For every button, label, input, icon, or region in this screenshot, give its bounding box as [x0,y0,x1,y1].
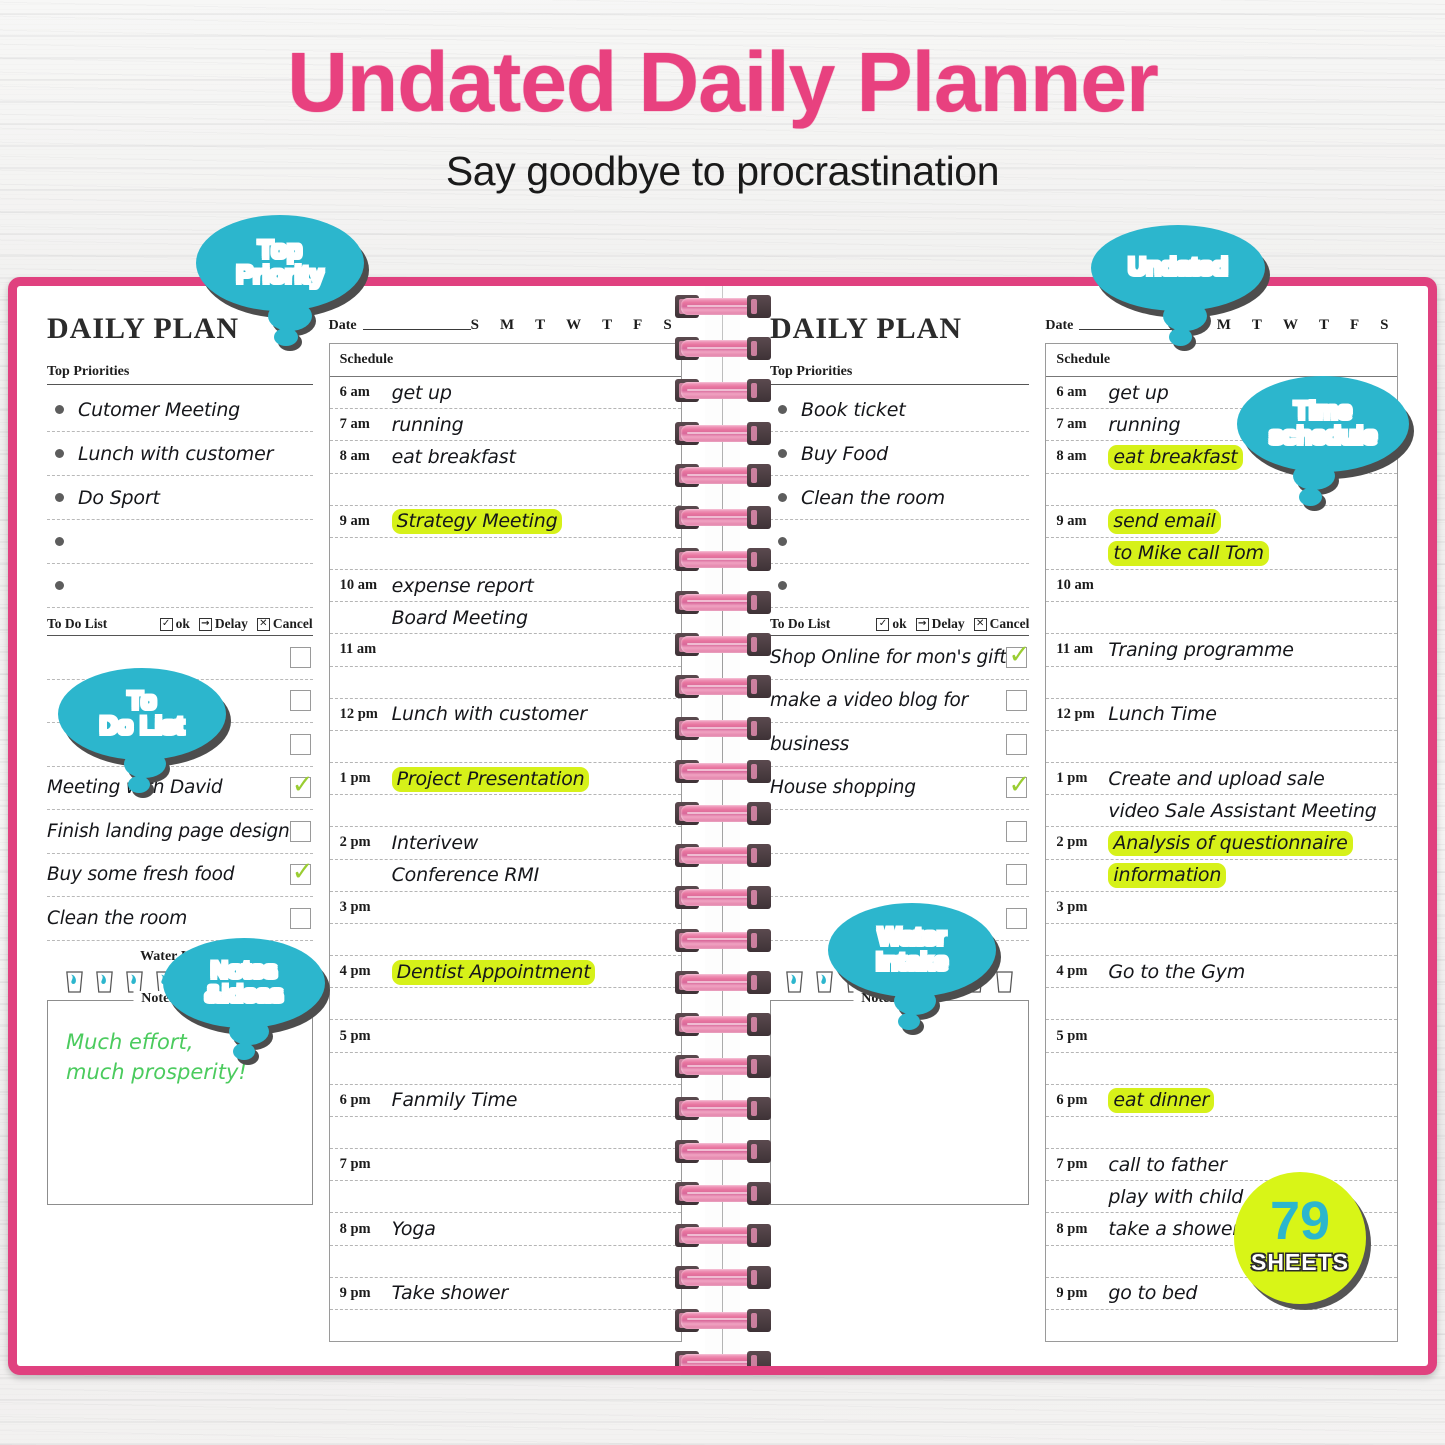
schedule-row[interactable] [330,988,681,1020]
schedule-hour-label: 2 pm [340,834,392,851]
schedule-entry-text: eat breakfast [1108,446,1242,468]
priority-text: Buy Food [801,443,888,465]
coil-ring [675,1012,771,1038]
todo-row[interactable]: make a video blog for [770,680,1029,724]
schedule-hour-label: 7 pm [340,1156,392,1173]
todo-text: Buy some fresh food [47,864,234,885]
todo-text: make a video blog for [770,690,968,711]
bullet-icon [55,405,64,414]
schedule-entry-text: get up [392,382,452,404]
callout-undated: Undated [1091,225,1265,311]
highlighted-entry: Analysis of questionnaire [1108,831,1352,856]
todo-row[interactable]: Clean the room [47,897,313,941]
sheets-word: SHEETS [1251,1249,1349,1276]
schedule-hour-label: 8 am [1056,448,1108,465]
schedule-row[interactable] [1046,1053,1397,1085]
schedule-hour-label: 8 pm [1056,1221,1108,1238]
date-input-left[interactable] [363,329,471,330]
todo-checkbox[interactable] [1006,734,1027,755]
coil-ring [675,294,771,320]
schedule-row[interactable] [1046,988,1397,1020]
schedule-hour-label: 3 pm [340,899,392,916]
coil-ring [675,716,771,742]
todo-checkbox-checked[interactable] [290,777,311,798]
schedule-hour-label: 10 am [340,577,392,594]
day-of-week-2: T [1252,317,1262,334]
schedule-row[interactable]: 7 amrunning [330,409,681,441]
bullet-icon [55,581,64,590]
notes-line: much prosperity! [66,1057,298,1087]
callout-line2: Intake [876,950,948,976]
todo-header-right: To Do List ✓ok →Delay ✕Cancel [770,616,1029,636]
schedule-entry-text: eat breakfast [392,446,516,468]
schedule-row[interactable] [1046,924,1397,956]
day-of-week-2: T [535,317,545,334]
schedule-row[interactable] [330,667,681,699]
highlighted-entry: send email [1108,509,1220,534]
schedule-hour-label: 6 pm [1056,1092,1108,1109]
legend-cancel-label: Cancel [990,616,1030,632]
schedule-box-left: Schedule 6 amget up7 amrunning8 ameat br… [329,343,682,1342]
todo-row[interactable]: business [770,723,1029,767]
left-page-column-schedule: Date SMTWTFS Schedule 6 amget up7 amrunn… [313,312,682,1344]
coil-ring [675,801,771,827]
top-priorities-label-left: Top Priorities [47,364,313,385]
schedule-entry-text: play with child [1108,1186,1243,1208]
header: Undated Daily Planner Say goodbye to pro… [0,0,1445,195]
todo-row[interactable]: Buy some fresh food [47,854,313,898]
schedule-row[interactable]: 12 pmLunch Time [1046,699,1397,731]
schedule-label-right: Schedule [1046,344,1397,377]
callout-line2: schedule [1269,424,1377,450]
notes-box-right: Notes&Ideas [770,1000,1029,1205]
schedule-hour-label: 9 am [340,513,392,530]
priority-text: Cutomer Meeting [78,399,240,421]
legend-ok-label: ok [176,616,190,632]
schedule-row[interactable]: 10 am [1046,570,1397,602]
priority-row[interactable]: Buy Food [770,432,1029,476]
highlighted-entry: Dentist Appointment [392,960,596,985]
schedule-entry-text: call to father [1108,1154,1226,1176]
bullet-icon [778,493,787,502]
schedule-row[interactable]: 6 amget up [330,377,681,409]
coil-ring [675,1096,771,1122]
schedule-row[interactable] [330,1246,681,1278]
callout-line2: Do List [100,714,185,740]
planner-page-left: DAILY PLAN Top Priorities Cutomer Meetin… [17,286,705,1366]
day-of-week-1: M [1217,317,1231,334]
left-page-column-priorities: DAILY PLAN Top Priorities Cutomer Meetin… [47,312,313,1344]
callout-line2: &ideas [205,983,284,1007]
priority-row[interactable]: Clean the room [770,476,1029,520]
delay-icon: → [199,618,212,631]
schedule-row[interactable]: Board Meeting [330,602,681,634]
schedule-row[interactable]: 12 pmLunch with customer [330,699,681,731]
schedule-entry-text: Project Presentation [392,768,590,790]
schedule-entry-text: Conference RMI [392,864,539,886]
spiral-binding [675,294,771,1366]
bullet-icon [778,537,787,546]
cancel-icon: ✕ [974,618,987,631]
todo-text: House shopping [770,777,916,798]
schedule-entry-text: get up [1108,382,1168,404]
schedule-entry-text: Lunch with customer [392,703,587,725]
bullet-icon [778,449,787,458]
callout-time-schedule: Timeschedule [1237,376,1409,472]
schedule-row[interactable]: 10 amexpense report [330,570,681,602]
schedule-row[interactable]: 2 pmInterivew [330,827,681,859]
ok-icon: ✓ [160,618,173,631]
day-of-week-0: S [471,317,479,334]
schedule-entry-text: Traning programme [1108,639,1293,661]
bullet-icon [778,405,787,414]
schedule-hour-label: 12 pm [1056,706,1108,723]
schedule-row[interactable]: 3 pm [1046,892,1397,924]
schedule-row[interactable] [1046,667,1397,699]
priority-row[interactable]: Do Sport [47,476,313,520]
priority-text: Do Sport [78,487,160,509]
date-label-right: Date [1045,318,1073,334]
schedule-hour-label: 1 pm [340,770,392,787]
top-priorities-list-left: Cutomer MeetingLunch with customerDo Spo… [47,388,313,608]
schedule-row[interactable]: 11 amTraning programme [1046,634,1397,666]
callout-line1: To [100,689,185,715]
bullet-icon [778,581,787,590]
schedule-entry-text: to Mike call Tom [1108,542,1268,564]
day-of-week-3: W [566,317,581,334]
todo-legend-right: ✓ok →Delay ✕Cancel [876,616,1029,632]
sheets-badge: 79 SHEETS [1234,1172,1366,1304]
coil-ring [675,1139,771,1165]
water-glass-filled-icon[interactable] [94,970,115,994]
schedule-row[interactable]: 9 amsend email [1046,506,1397,538]
schedule-entry-text: Strategy Meeting [392,510,563,532]
todo-text: Shop Online for mon's gift [770,647,1006,668]
schedule-row[interactable] [1046,731,1397,763]
callout-line2: Priority [236,263,324,289]
schedule-entry-text: eat dinner [1108,1089,1214,1111]
bullet-icon [55,537,64,546]
day-of-week-row-left: SMTWTFS [471,317,682,334]
schedule-hour-label: 7 pm [1056,1156,1108,1173]
schedule-row[interactable]: 3 pm [330,892,681,924]
schedule-entry-text: video Sale Assistant Meeting [1108,800,1376,822]
todo-checkbox-checked[interactable] [1006,647,1027,668]
date-row-left: Date SMTWTFS [329,312,682,334]
todo-row[interactable]: Finish landing page design [47,810,313,854]
callout-top-priority: TopPriority [196,215,364,311]
priority-row[interactable]: Book ticket [770,388,1029,432]
schedule-hour-label: 6 pm [340,1092,392,1109]
schedule-hour-label: 11 am [1056,641,1108,658]
schedule-hour-label: 10 am [1056,577,1108,594]
coil-ring [675,674,771,700]
notes-box-left: Notes&Ideas Much effort,much prosperity! [47,1000,313,1205]
highlighted-entry: eat breakfast [1108,445,1242,470]
coil-ring [675,378,771,404]
todo-text: Finish landing page design [47,821,290,842]
schedule-row[interactable]: 2 pmAnalysis of questionnaire [1046,827,1397,859]
coil-ring [675,843,771,869]
coil-ring [675,1054,771,1080]
schedule-hour-label: 3 pm [1056,899,1108,916]
highlighted-entry: eat dinner [1108,1088,1214,1113]
coil-ring [675,505,771,531]
todo-text: business [770,734,849,755]
schedule-row[interactable]: 5 pm [330,1020,681,1052]
todo-label-left: To Do List [47,616,107,632]
schedule-row[interactable]: 4 pmGo to the Gym [1046,956,1397,988]
schedule-entry-text: information [1108,864,1226,886]
callout-line1: Water [876,925,948,951]
water-glass-filled-icon[interactable] [64,970,85,994]
todo-checkbox-checked[interactable] [290,864,311,885]
schedule-row[interactable] [330,1053,681,1085]
coil-ring [675,1350,771,1366]
schedule-hour-label: 8 pm [340,1221,392,1238]
page-title: Undated Daily Planner [0,38,1445,126]
ok-icon: ✓ [876,618,889,631]
priority-row[interactable] [770,520,1029,564]
todo-checkbox[interactable] [1006,690,1027,711]
delay-icon: → [916,618,929,631]
todo-checkbox[interactable] [290,690,311,711]
schedule-row[interactable] [1046,1117,1397,1149]
todo-list-right: Shop Online for mon's giftmake a video b… [770,636,1029,941]
callout-line1: Undated [1128,255,1228,281]
plan-title-right: DAILY PLAN [770,312,1029,346]
schedule-entry-text: Lunch Time [1108,703,1216,725]
bullet-icon [55,449,64,458]
coil-ring [675,1265,771,1291]
right-page-column-priorities: DAILY PLAN Top Priorities Book ticketBuy… [770,312,1029,1344]
callout-line1: Notes [205,959,284,983]
schedule-entry-text: take a shower [1108,1218,1240,1240]
todo-row[interactable]: Shop Online for mon's gift [770,636,1029,680]
highlighted-entry: Strategy Meeting [392,509,563,534]
todo-row[interactable]: Meeting with David [47,767,313,811]
schedule-row[interactable]: 7 pm [330,1149,681,1181]
date-label-left: Date [329,318,357,334]
day-of-week-1: M [500,317,514,334]
schedule-entry-text: Analysis of questionnaire [1108,832,1352,854]
priority-text: Clean the room [801,487,945,509]
schedule-entry-text: go to bed [1108,1282,1197,1304]
todo-checkbox[interactable] [290,908,311,929]
schedule-row[interactable] [330,731,681,763]
schedule-entry-text: Dentist Appointment [392,961,596,983]
highlighted-entry: information [1108,863,1226,888]
callout-water-intake: WaterIntake [828,903,996,997]
coil-ring [675,970,771,996]
schedule-entry-text: Yoga [392,1218,436,1240]
top-priorities-list-right: Book ticketBuy FoodClean the room [770,388,1029,608]
bullet-icon [55,493,64,502]
schedule-entry-text: Create and upload sale [1108,768,1324,790]
schedule-row[interactable]: 7 pmcall to father [1046,1149,1397,1181]
legend-cancel-label: Cancel [273,616,313,632]
coil-ring [675,885,771,911]
todo-checkbox[interactable] [290,647,311,668]
schedule-row[interactable] [330,924,681,956]
schedule-row[interactable]: video Sale Assistant Meeting [1046,795,1397,827]
todo-legend-left: ✓ok →Delay ✕Cancel [160,616,313,632]
day-of-week-6: S [663,317,671,334]
schedule-entry-text: running [1108,414,1180,436]
day-of-week-5: F [633,317,642,334]
schedule-hour-label: 11 am [340,641,392,658]
todo-label-right: To Do List [770,616,830,632]
coil-ring [675,421,771,447]
schedule-entry-text: running [392,414,464,436]
coil-ring [675,336,771,362]
coil-ring [675,759,771,785]
schedule-row[interactable]: 1 pmCreate and upload sale [1046,763,1397,795]
priority-row[interactable]: Lunch with customer [47,432,313,476]
schedule-row[interactable]: 6 pmeat dinner [1046,1085,1397,1117]
schedule-hour-label: 6 am [340,384,392,401]
todo-checkbox[interactable] [1006,864,1027,885]
cancel-icon: ✕ [257,618,270,631]
schedule-row[interactable] [1046,1310,1397,1341]
schedule-row[interactable]: 1 pmProject Presentation [330,763,681,795]
priority-text: Book ticket [801,399,905,421]
day-of-week-4: T [602,317,612,334]
priority-row[interactable] [47,520,313,564]
coil-ring [675,1308,771,1334]
water-glass-filled-icon[interactable] [784,970,805,994]
schedule-row[interactable] [330,1117,681,1149]
schedule-row[interactable]: to Mike call Tom [1046,538,1397,570]
priority-row[interactable]: Cutomer Meeting [47,388,313,432]
schedule-hour-label: 9 am [1056,513,1108,530]
coil-ring [675,632,771,658]
callout-to-do-list: ToDo List [58,668,226,760]
schedule-entry-text: Go to the Gym [1108,961,1245,983]
water-glass-empty-icon[interactable] [994,970,1015,994]
schedule-row[interactable] [1046,602,1397,634]
day-of-week-row-right: SMTWTFS [1187,317,1398,334]
todo-header-left: To Do List ✓ok →Delay ✕Cancel [47,616,313,636]
schedule-row[interactable]: 8 ameat breakfast [330,441,681,473]
coil-ring [675,590,771,616]
schedule-label-left: Schedule [330,344,681,377]
priority-row[interactable] [47,564,313,608]
schedule-hour-label: 12 pm [340,706,392,723]
schedule-row[interactable]: 8 pmYoga [330,1213,681,1245]
schedule-entry-text: Take shower [392,1282,508,1304]
callout-line1: Top [236,238,324,264]
highlighted-entry: to Mike call Tom [1108,541,1268,566]
schedule-hour-label: 9 pm [1056,1285,1108,1302]
schedule-hour-label: 4 pm [340,963,392,980]
schedule-row[interactable] [330,795,681,827]
schedule-entry-text: expense report [392,575,534,597]
todo-row[interactable] [770,810,1029,854]
priority-row[interactable] [770,564,1029,608]
schedule-entry-text: Fanmily Time [392,1089,518,1111]
schedule-hour-label: 9 pm [340,1285,392,1302]
schedule-entry-text: send email [1108,510,1220,532]
highlighted-entry: Project Presentation [392,767,590,792]
todo-checkbox[interactable] [1006,908,1027,929]
page-subtitle: Say goodbye to procrastination [0,148,1445,195]
schedule-row[interactable]: 9 pmTake shower [330,1278,681,1310]
schedule-row[interactable] [330,1310,681,1341]
schedule-row[interactable]: 4 pmDentist Appointment [330,956,681,988]
coil-ring [675,1223,771,1249]
sheets-count: 79 [1270,1196,1330,1248]
callout-line1: Time [1269,399,1377,425]
top-priorities-label-right: Top Priorities [770,364,1029,385]
schedule-hour-label: 2 pm [1056,834,1108,851]
schedule-row[interactable]: 5 pm [1046,1020,1397,1052]
legend-ok-label: ok [892,616,906,632]
schedule-hour-label: 6 am [1056,384,1108,401]
date-row-right: Date SMTWTFS [1045,312,1398,334]
day-of-week-3: W [1283,317,1298,334]
schedule-row[interactable] [330,474,681,506]
callout-notes-ideas: Notes&ideas [163,938,325,1028]
day-of-week-4: T [1319,317,1329,334]
schedule-entry-text: Board Meeting [392,607,528,629]
schedule-row[interactable]: 6 pmFanmily Time [330,1085,681,1117]
schedule-rows-left: 6 amget up7 amrunning8 ameat breakfast9 … [330,377,681,1341]
todo-row[interactable] [770,854,1029,898]
legend-delay-label: Delay [932,616,965,632]
coil-ring [675,928,771,954]
schedule-hour-label: 4 pm [1056,963,1108,980]
schedule-row[interactable]: 9 amStrategy Meeting [330,506,681,538]
schedule-row[interactable] [330,1181,681,1213]
schedule-row[interactable]: Conference RMI [330,860,681,892]
day-of-week-6: S [1380,317,1388,334]
legend-delay-label: Delay [215,616,248,632]
schedule-row[interactable] [330,538,681,570]
priority-text: Lunch with customer [78,443,273,465]
todo-row[interactable]: House shopping [770,767,1029,811]
day-of-week-5: F [1350,317,1359,334]
todo-checkbox-checked[interactable] [1006,777,1027,798]
schedule-hour-label: 5 pm [1056,1028,1108,1045]
schedule-hour-label: 8 am [340,448,392,465]
schedule-hour-label: 1 pm [1056,770,1108,787]
schedule-row[interactable] [1046,474,1397,506]
coil-ring [675,1181,771,1207]
schedule-hour-label: 7 am [1056,416,1108,433]
schedule-row[interactable]: 11 am [330,634,681,666]
todo-checkbox[interactable] [290,734,311,755]
coil-ring [675,463,771,489]
schedule-entry-text: Interivew [392,832,479,854]
todo-checkbox[interactable] [290,821,311,842]
todo-text: Clean the room [47,908,187,929]
todo-checkbox[interactable] [1006,821,1027,842]
planner-book: DAILY PLAN Top Priorities Cutomer Meetin… [8,277,1437,1375]
schedule-row[interactable]: information [1046,860,1397,892]
schedule-hour-label: 5 pm [340,1028,392,1045]
coil-ring [675,547,771,573]
schedule-hour-label: 7 am [340,416,392,433]
